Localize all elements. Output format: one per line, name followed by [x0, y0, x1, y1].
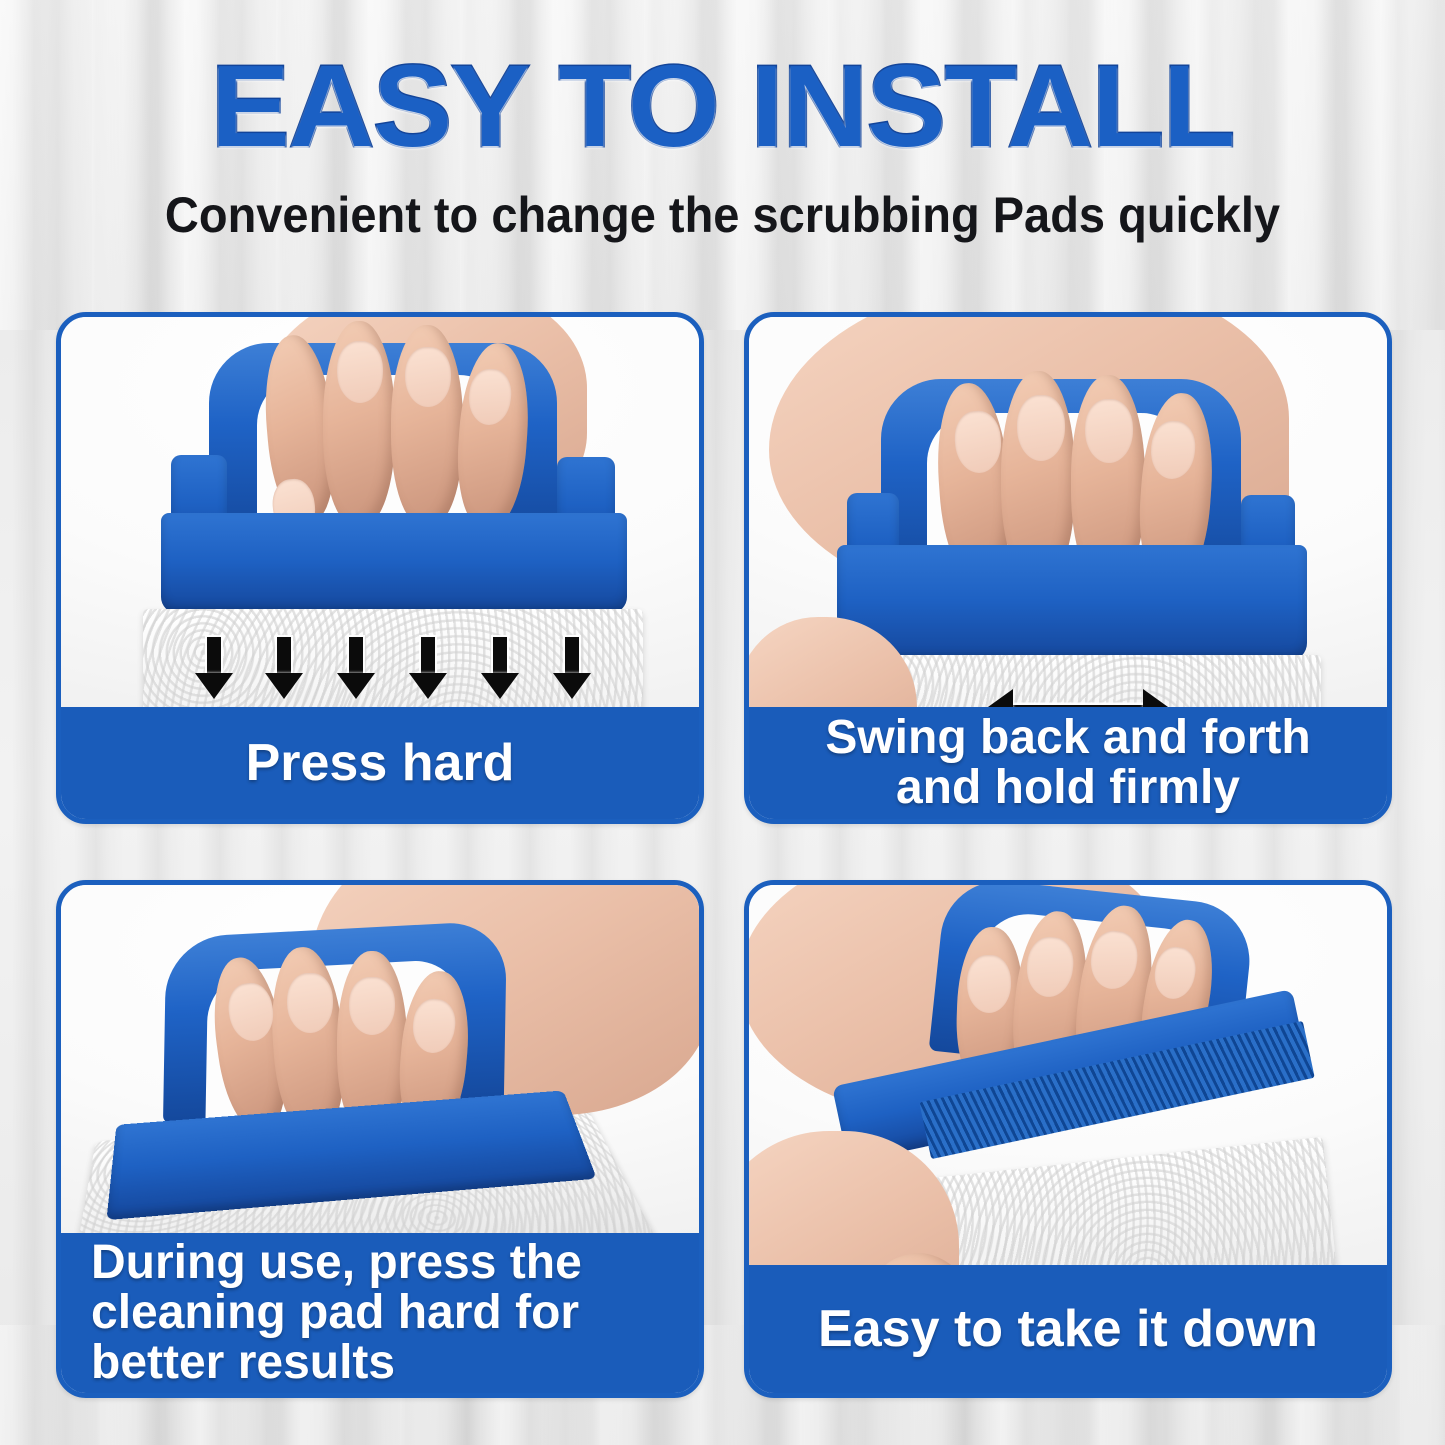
down-arrow-2	[277, 637, 291, 675]
step-panel-during-use[interactable]: During use, press the cleaning pad hard …	[56, 880, 704, 1398]
photo-easy-to-take-it-down	[749, 885, 1387, 1265]
step-panel-swing-back-and-forth[interactable]: Swing back and forth and hold firmly	[744, 312, 1392, 824]
down-arrow-5	[493, 637, 507, 675]
photo-during-use	[61, 885, 699, 1233]
steps-grid: Press hard	[56, 312, 1392, 1398]
down-arrow-4	[421, 637, 435, 675]
caption-line-1: During use, press the	[91, 1236, 582, 1289]
photo-press-hard	[61, 317, 699, 707]
step-panel-easy-to-take-it-down[interactable]: Easy to take it down	[744, 880, 1392, 1398]
down-arrow-1	[207, 637, 221, 675]
caption-line-3: better results	[91, 1336, 395, 1389]
caption-line-2: and hold firmly	[896, 761, 1240, 814]
infographic-page: EASY TO INSTALL Convenient to change the…	[0, 0, 1445, 1445]
step-caption-swing-back-and-forth: Swing back and forth and hold firmly	[749, 707, 1387, 819]
down-arrow-6	[565, 637, 579, 675]
photo-swing-back-and-forth	[749, 317, 1387, 707]
caption-line-2: cleaning pad hard for	[91, 1286, 579, 1339]
step-caption-during-use: During use, press the cleaning pad hard …	[61, 1233, 699, 1393]
step-panel-press-hard[interactable]: Press hard	[56, 312, 704, 824]
down-arrow-3	[349, 637, 363, 675]
step-caption-press-hard: Press hard	[61, 707, 699, 819]
header: EASY TO INSTALL Convenient to change the…	[0, 0, 1445, 240]
page-title: EASY TO INSTALL	[0, 48, 1445, 164]
step-caption-easy-to-take-it-down: Easy to take it down	[749, 1265, 1387, 1393]
page-subtitle: Convenient to change the scrubbing Pads …	[43, 190, 1401, 240]
caption-line-1: Swing back and forth	[825, 711, 1310, 764]
